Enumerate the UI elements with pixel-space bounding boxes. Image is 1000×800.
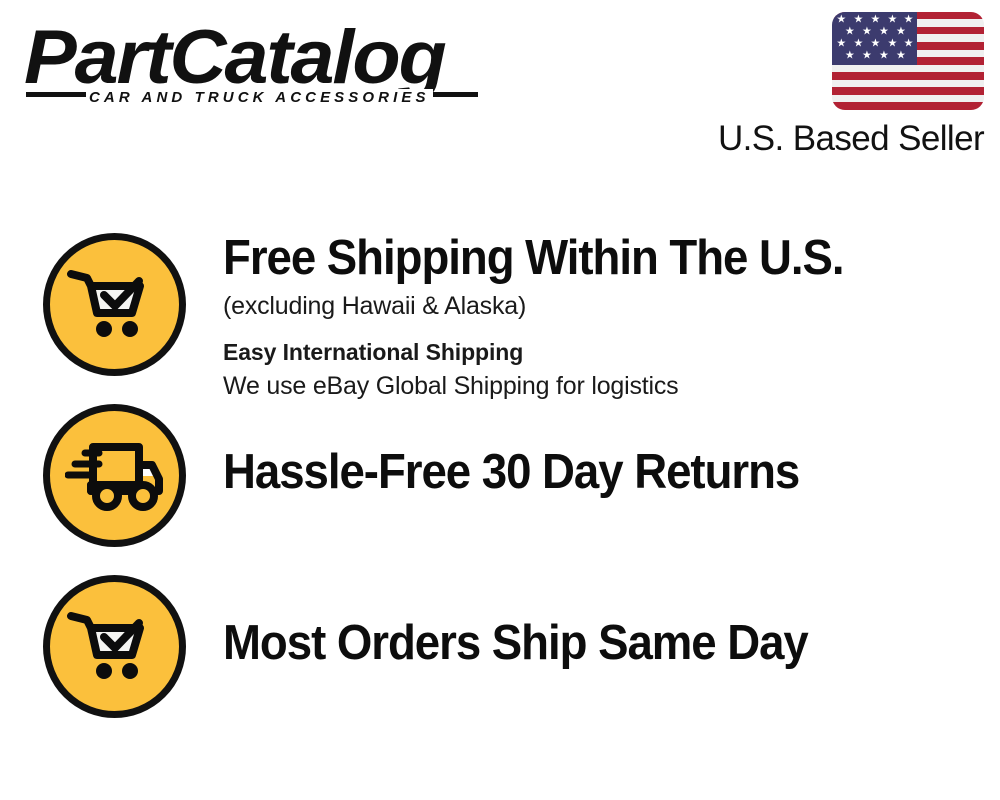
flag-stripe (832, 102, 984, 109)
cart-check-icon (43, 575, 186, 718)
feature-list: Free Shipping Within The U.S. (excluding… (0, 233, 1000, 746)
flag-star-icon: ★ (870, 14, 880, 25)
feature-text: Free Shipping Within The U.S. (excluding… (223, 233, 983, 405)
flag-star-icon: ★ (853, 39, 863, 50)
brand-wordmark: PartCatalog (24, 22, 513, 95)
feature-row: Most Orders Ship Same Day (0, 575, 1000, 746)
delivery-truck-icon (43, 404, 186, 547)
feature-headline: Hassle-Free 30 Day Returns (223, 447, 930, 499)
flag-star-icon: ★ (845, 27, 855, 38)
flag-star-icon: ★ (879, 51, 889, 62)
cart-check-icon (43, 233, 186, 376)
flag-star-icon: ★ (836, 14, 846, 25)
flag-star-icon: ★ (896, 51, 906, 62)
banner-header: PartCatalog CAR AND TRUCK ACCESSORIES (0, 0, 1000, 185)
flag-stripe (832, 65, 984, 72)
feature-text: Most Orders Ship Same Day (223, 618, 983, 670)
brand-tagline: CAR AND TRUCK ACCESSORIES (86, 89, 433, 106)
flag-stripe (832, 87, 984, 94)
flag-star-icon: ★ (887, 14, 897, 25)
flag-stripe (832, 95, 984, 102)
us-based-seller-label: U.S. Based Seller (684, 119, 984, 159)
flag-star-icon: ★ (862, 51, 872, 62)
brand-logo: PartCatalog CAR AND TRUCK ACCESSORIES (24, 22, 494, 113)
flag-stripe (832, 80, 984, 87)
feature-text: Hassle-Free 30 Day Returns (223, 447, 983, 499)
flag-star-icon: ★ (870, 39, 880, 50)
flag-star-icon: ★ (879, 27, 889, 38)
flag-star-icon: ★ (904, 39, 914, 50)
us-flag-icon: ★ ★ ★ ★ ★ ★ ★ ★ ★ ★ ★ ★ ★ ★ ★ ★ ★ (832, 12, 984, 110)
feature-headline: Most Orders Ship Same Day (223, 618, 930, 670)
feature-subtext: We use eBay Global Shipping for logistic… (223, 369, 983, 405)
flag-star-icon: ★ (862, 27, 872, 38)
flag-stripe (832, 72, 984, 79)
feature-subhead: Easy International Shipping (223, 336, 983, 369)
flag-star-icon: ★ (904, 14, 914, 25)
feature-row: Hassle-Free 30 Day Returns (0, 404, 1000, 575)
flag-canton: ★ ★ ★ ★ ★ ★ ★ ★ ★ ★ ★ ★ ★ ★ ★ ★ ★ (832, 12, 917, 65)
feature-headline: Free Shipping Within The U.S. (223, 233, 930, 285)
flag-star-icon: ★ (896, 27, 906, 38)
brand-tagline-row: CAR AND TRUCK ACCESSORIES (24, 91, 494, 113)
flag-star-icon: ★ (836, 39, 846, 50)
shipping-info-banner: PartCatalog CAR AND TRUCK ACCESSORIES (0, 0, 1000, 800)
flag-star-icon: ★ (853, 14, 863, 25)
feature-note: (excluding Hawaii & Alaska) (223, 289, 983, 325)
us-based-seller-block: ★ ★ ★ ★ ★ ★ ★ ★ ★ ★ ★ ★ ★ ★ ★ ★ ★ (684, 12, 984, 159)
flag-star-icon: ★ (845, 51, 855, 62)
feature-row: Free Shipping Within The U.S. (excluding… (0, 233, 1000, 404)
flag-star-icon: ★ (887, 39, 897, 50)
